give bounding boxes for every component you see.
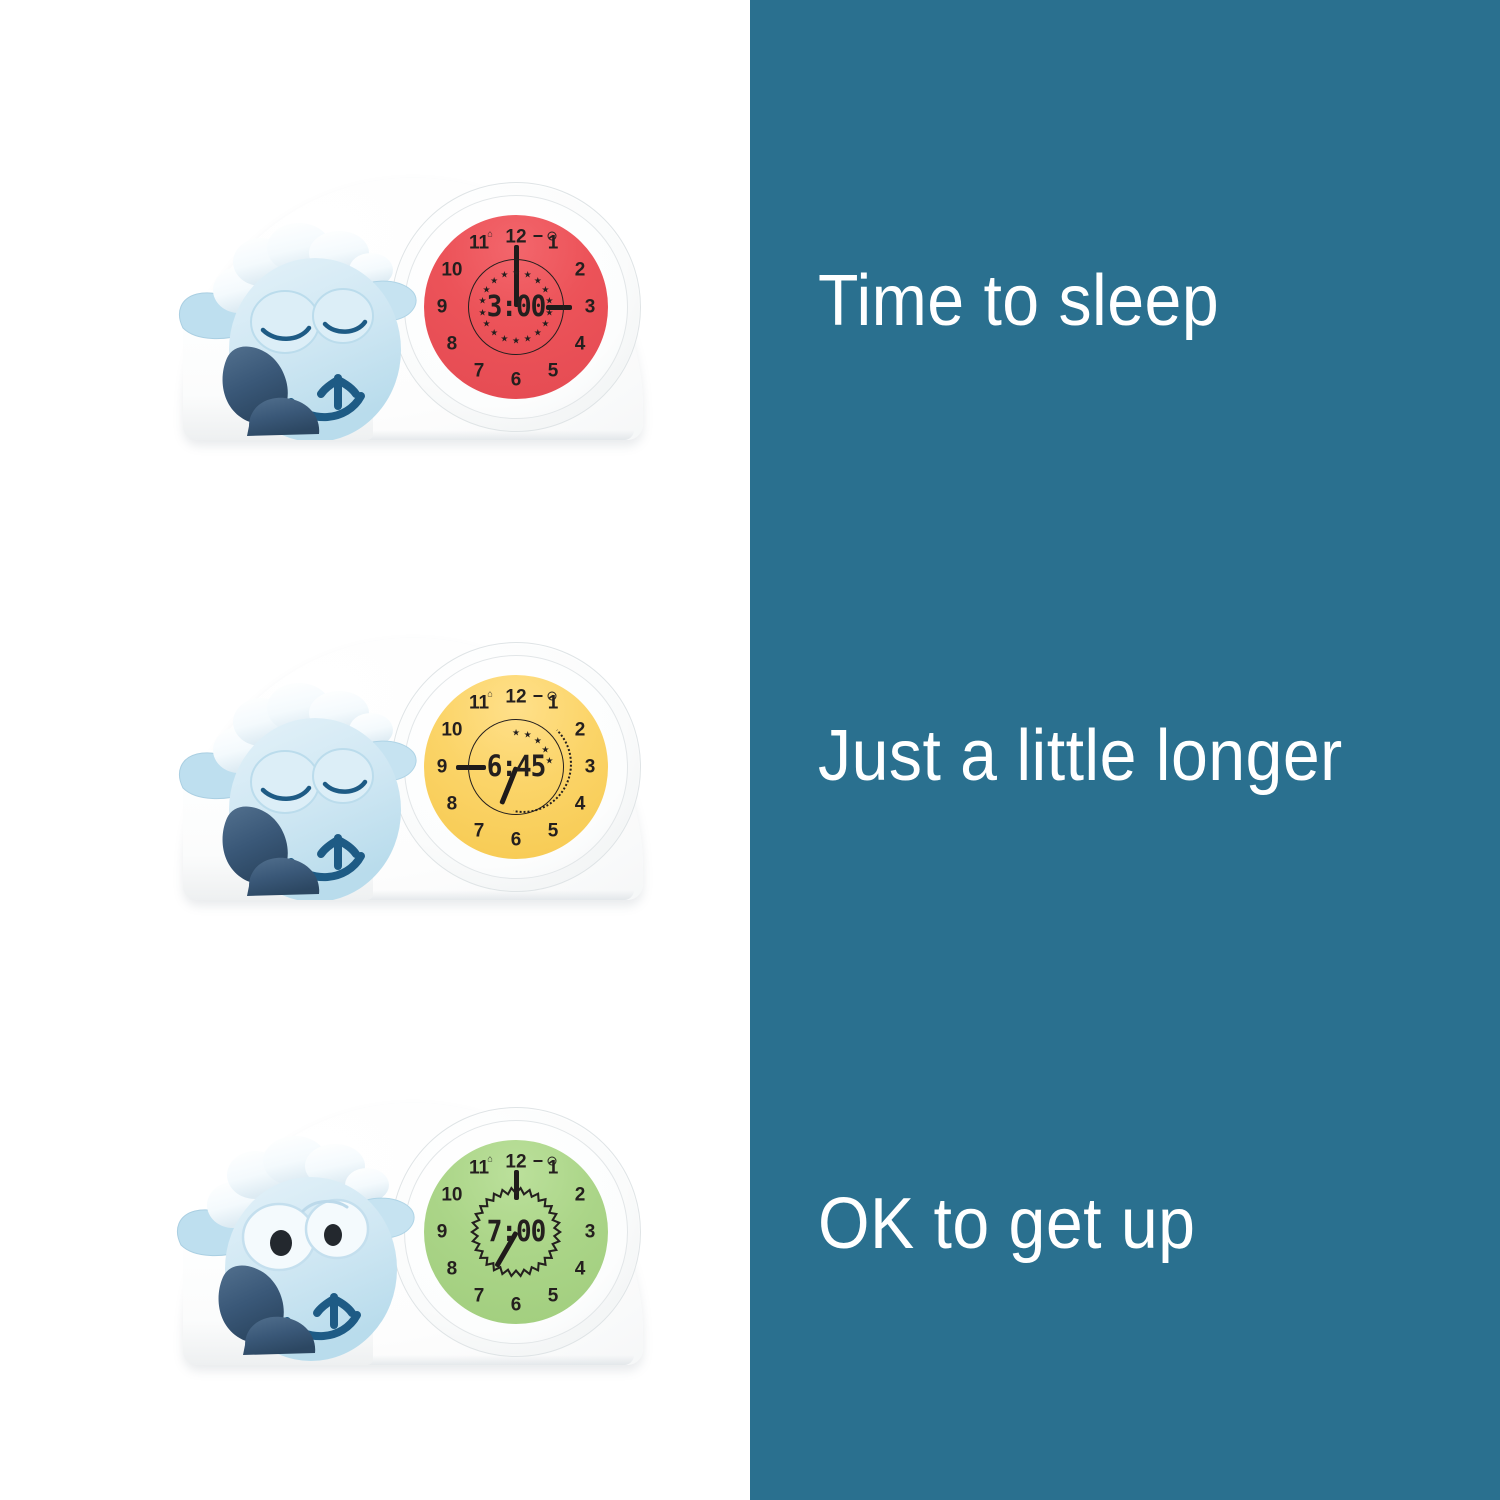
clock-face-yellow: 121234567891011⌂★★★★★6:45 <box>391 642 641 892</box>
clock-numeral-9: 9 <box>437 298 448 317</box>
clock-numeral-2: 2 <box>575 721 586 740</box>
caption-time-to-sleep: Time to sleep <box>818 265 1219 337</box>
clock-dial: 121234567891011⌂7:00 <box>424 1140 608 1324</box>
star-icon: ★ <box>524 271 532 280</box>
clock-face-red: 121234567891011⌂★★★★★★★★★★★★★★★★★★3:00 <box>391 182 641 432</box>
ring-icon <box>548 232 557 241</box>
clock-numeral-9: 9 <box>437 1223 448 1242</box>
digital-time-value: 7:00 <box>487 1215 546 1249</box>
digital-time-display: ★★★★★★★★★★★★★★★★★★3:00 <box>468 259 564 355</box>
dash-icon <box>534 235 543 237</box>
star-icon: ★ <box>500 334 508 343</box>
dash-icon <box>534 695 543 697</box>
clock-numeral-11: 11 <box>469 1158 489 1177</box>
alarm-bell-icon: ⌂ <box>487 690 492 699</box>
star-icon: ★ <box>512 337 520 346</box>
clock-numeral-3: 3 <box>585 758 596 777</box>
star-icon: ★ <box>490 329 498 338</box>
clock-numeral-10: 10 <box>441 261 462 280</box>
clock-numeral-5: 5 <box>548 362 559 381</box>
digital-time-display: 7:00 <box>468 1184 564 1280</box>
star-icon: ★ <box>545 308 553 317</box>
clock-dial: 121234567891011⌂★★★★★★★★★★★★★★★★★★3:00 <box>424 215 608 399</box>
clock-numeral-4: 4 <box>575 1260 586 1279</box>
clock-numeral-7: 7 <box>474 822 485 841</box>
lcd-screen-green: 121234567891011⌂7:00 <box>424 1140 608 1324</box>
caption-just-a-little-longer: Just a little longer <box>818 720 1343 792</box>
star-icon: ★ <box>490 276 498 285</box>
device-sleep-trainer-yellow: 121234567891011⌂★★★★★6:45 <box>175 600 645 910</box>
clock-numeral-10: 10 <box>441 721 462 740</box>
clock-numeral-8: 8 <box>447 335 458 354</box>
clock-numeral-2: 2 <box>575 261 586 280</box>
sheep-figure-sleeping-2 <box>175 600 425 900</box>
star-icon: ★ <box>500 271 508 280</box>
device-sleep-trainer-red: 121234567891011⌂★★★★★★★★★★★★★★★★★★3:00 <box>175 140 645 450</box>
clock-numeral-7: 7 <box>474 362 485 381</box>
clock-numeral-11: 11 <box>469 233 489 252</box>
clock-numeral-4: 4 <box>575 335 586 354</box>
star-icon: ★ <box>524 731 532 740</box>
clock-numeral-2: 2 <box>575 1186 586 1205</box>
clock-dial: 121234567891011⌂★★★★★6:45 <box>424 675 608 859</box>
page-root: Time to sleep Just a little longer OK to… <box>0 0 1500 1500</box>
clock-numeral-4: 4 <box>575 795 586 814</box>
star-icon: ★ <box>478 308 486 317</box>
clock-numeral-5: 5 <box>548 822 559 841</box>
clock-numeral-5: 5 <box>548 1287 559 1306</box>
star-icon: ★ <box>545 757 553 766</box>
clock-numeral-12: 12 <box>505 688 526 707</box>
caption-ok-to-get-up: OK to get up <box>818 1188 1195 1260</box>
clock-numeral-7: 7 <box>474 1287 485 1306</box>
clock-numeral-12: 12 <box>505 1153 526 1172</box>
alarm-bell-icon: ⌂ <box>487 1155 492 1164</box>
clock-numeral-8: 8 <box>447 1260 458 1279</box>
clock-numeral-11: 11 <box>469 693 489 712</box>
star-icon: ★ <box>534 329 542 338</box>
ring-icon <box>548 692 557 701</box>
clock-numeral-3: 3 <box>585 298 596 317</box>
digital-time-value: 3:00 <box>487 290 546 324</box>
alarm-bell-icon: ⌂ <box>487 230 492 239</box>
clock-numeral-8: 8 <box>447 795 458 814</box>
clock-face-green: 121234567891011⌂7:00 <box>391 1107 641 1357</box>
clock-numeral-6: 6 <box>511 371 522 390</box>
clock-numeral-9: 9 <box>437 758 448 777</box>
star-icon: ★ <box>545 297 553 306</box>
lcd-screen-red: 121234567891011⌂★★★★★★★★★★★★★★★★★★3:00 <box>424 215 608 399</box>
dash-icon <box>534 1160 543 1162</box>
star-icon: ★ <box>524 334 532 343</box>
lcd-screen-yellow: 121234567891011⌂★★★★★6:45 <box>424 675 608 859</box>
clock-numeral-6: 6 <box>511 1296 522 1315</box>
star-icon: ★ <box>512 729 520 738</box>
star-icon: ★ <box>478 297 486 306</box>
sheep-figure-sleeping <box>175 140 425 440</box>
clock-numeral-3: 3 <box>585 1223 596 1242</box>
digital-time-value: 6:45 <box>487 750 546 784</box>
digital-time-display: ★★★★★6:45 <box>468 719 564 815</box>
clock-numeral-10: 10 <box>441 1186 462 1205</box>
star-icon: ★ <box>512 269 520 278</box>
clock-numeral-12: 12 <box>505 228 526 247</box>
ring-icon <box>548 1157 557 1166</box>
clock-numeral-6: 6 <box>511 831 522 850</box>
sheep-figure-awake <box>175 1065 425 1365</box>
device-sleep-trainer-green: 121234567891011⌂7:00 <box>175 1065 645 1375</box>
